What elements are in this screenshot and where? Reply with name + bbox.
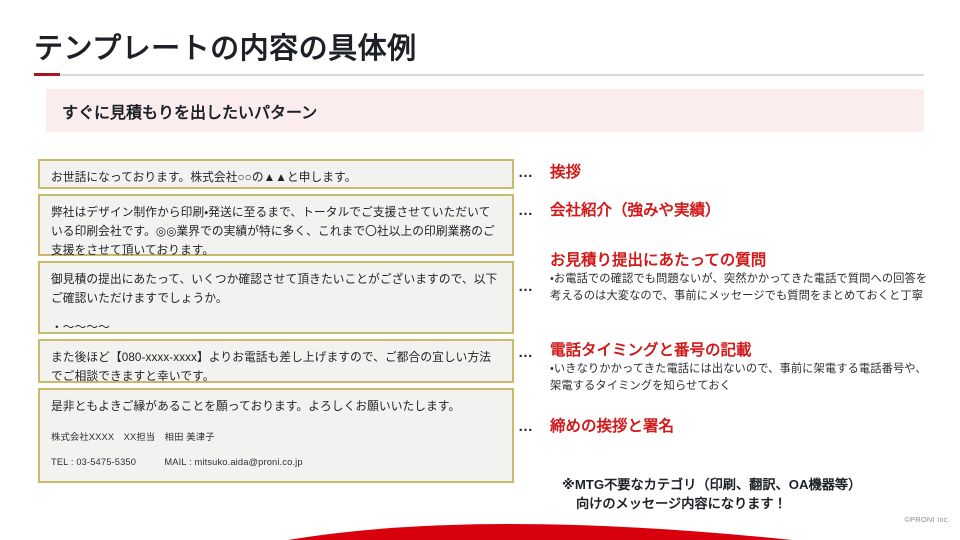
ellipsis-connector-icon: …: [518, 417, 550, 436]
message-list: お世話になっております。株式会社○○の▲▲と申します。 弊社はデザイン制作から印…: [38, 159, 514, 488]
message-box-phone-timing: また後ほど【080-xxxx-xxxx】よりお電話も差し上げますので、ご都合の宜…: [38, 339, 514, 383]
message-text: 是非ともよきご縁があることを願っております。よろしくお願いいたします。: [51, 398, 502, 417]
message-box-questions: 御見積の提出にあたって、いくつか確認させて頂きたいことがございますので、以下ご確…: [38, 261, 514, 334]
title-divider: [34, 74, 924, 76]
annotation-company-intro: … 会社紹介（強みや実績）: [518, 201, 721, 220]
ellipsis-connector-icon: …: [518, 163, 550, 182]
message-text-bullets: ・〜〜〜〜: [51, 319, 502, 338]
annotation-body: 電話タイミングと番号の記載 ・いきなりかかってきた電話には出ないので、事前に架電…: [550, 341, 934, 395]
ellipsis-connector-icon: …: [518, 341, 550, 362]
annotation-heading: 締めの挨拶と署名: [550, 417, 674, 436]
message-box-closing-signature: 是非ともよきご縁があることを願っております。よろしくお願いいたします。 株式会社…: [38, 388, 514, 483]
annotation-heading: 挨拶: [550, 163, 581, 182]
annotation-body: 会社紹介（強みや実績）: [550, 201, 721, 220]
annotation-body: 挨拶: [550, 163, 581, 182]
ellipsis-connector-icon: …: [518, 251, 550, 296]
annotation-heading: 電話タイミングと番号の記載: [550, 341, 934, 360]
annotation-body: 締めの挨拶と署名: [550, 417, 674, 436]
annotation-subtext: ・お電話での確認でも問題ないが、突然かかってきた電話で質問への回答を考えるのは大…: [550, 271, 934, 305]
signature-name: 株式会社XXXX XX担当 相田 美津子: [51, 430, 502, 445]
signature-contact: TEL : 03-5475-5350 MAIL : mitsuko.aida@p…: [51, 455, 502, 470]
ellipsis-connector-icon: …: [518, 201, 550, 220]
annotation-greeting: … 挨拶: [518, 163, 581, 182]
copyright-label: ©PRONI Inc.: [904, 515, 950, 524]
message-box-company-intro: 弊社はデザイン制作から印刷・発送に至るまで、トータルでご支援させていただいている…: [38, 194, 514, 256]
slide-root: テンプレートの内容の具体例 すぐに見積もりを出したいパターン お世話になっており…: [0, 0, 960, 540]
message-text: 弊社はデザイン制作から印刷・発送に至るまで、トータルでご支援させていただいている…: [51, 204, 502, 261]
annotation-heading: 会社紹介（強みや実績）: [550, 201, 721, 220]
annotation-phone-timing: … 電話タイミングと番号の記載 ・いきなりかかってきた電話には出ないので、事前に…: [518, 341, 934, 395]
page-title: テンプレートの内容の具体例: [34, 25, 417, 67]
footer-note-line1: ※MTG不要なカテゴリ（印刷、翻訳、OA機器等）: [562, 476, 861, 495]
subtitle-banner: すぐに見積もりを出したいパターン: [46, 89, 924, 132]
annotation-closing-signature: … 締めの挨拶と署名: [518, 417, 674, 436]
annotation-questions: … お見積り提出にあたっての質問 ・お電話での確認でも問題ないが、突然かかってき…: [518, 251, 934, 305]
footer-note-line2: 向けのメッセージ内容になります！: [562, 495, 861, 514]
title-divider-accent: [34, 73, 60, 76]
message-text: また後ほど【080-xxxx-xxxx】よりお電話も差し上げますので、ご都合の宜…: [51, 349, 502, 387]
message-text: 御見積の提出にあたって、いくつか確認させて頂きたいことがございますので、以下ご確…: [51, 271, 502, 309]
subtitle-label: すぐに見積もりを出したいパターン: [62, 99, 317, 123]
annotation-heading: お見積り提出にあたっての質問: [550, 251, 934, 270]
message-box-greeting: お世話になっております。株式会社○○の▲▲と申します。: [38, 159, 514, 189]
footer-note: ※MTG不要なカテゴリ（印刷、翻訳、OA機器等） 向けのメッセージ内容になります…: [562, 476, 861, 513]
annotation-body: お見積り提出にあたっての質問 ・お電話での確認でも問題ないが、突然かかってきた電…: [550, 251, 934, 305]
message-text: お世話になっております。株式会社○○の▲▲と申します。: [51, 169, 502, 188]
annotation-subtext: ・いきなりかかってきた電話には出ないので、事前に架電する電話番号や、架電するタイ…: [550, 361, 934, 395]
